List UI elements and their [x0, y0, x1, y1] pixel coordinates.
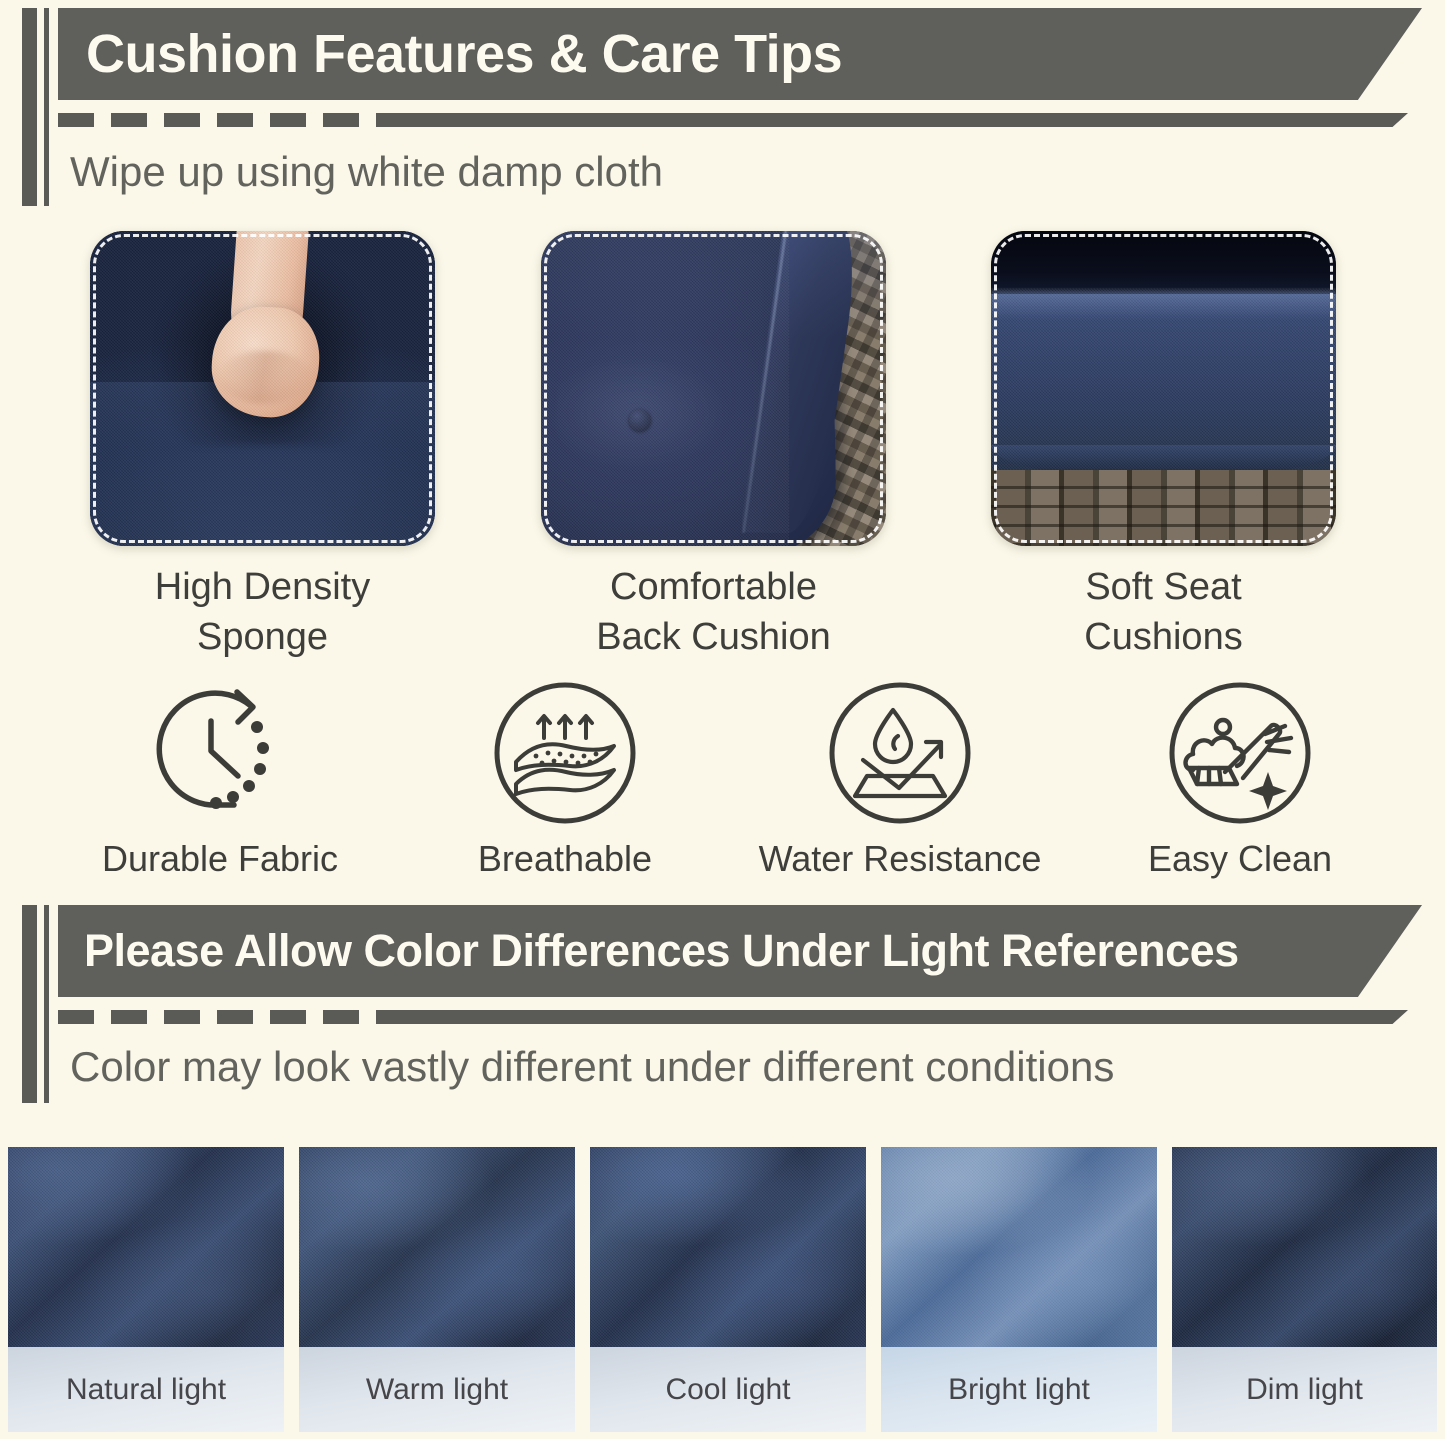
fabric-weave-texture-3: [991, 288, 1336, 471]
caption-line-1: High Density: [90, 562, 435, 612]
feature-durable-fabric: Durable Fabric: [75, 680, 365, 880]
fabric-weave-texture-1: [90, 231, 435, 546]
feature-water-resistance: Water Resistance: [755, 680, 1045, 880]
photo-card-soft-seat-cushions: [991, 231, 1336, 546]
brush-sparkle-icon: [1167, 680, 1313, 826]
swatch-natural-light: Natural light: [8, 1147, 284, 1432]
caption-comfortable-back-cushion: Comfortable Back Cushion: [521, 562, 906, 662]
swatch-weave-2: [299, 1147, 575, 1347]
feature-label-easy-clean: Easy Clean: [1095, 838, 1385, 880]
section1-banner: Cushion Features & Care Tips: [58, 8, 1422, 100]
section2-dash-divider: [58, 1010, 1408, 1024]
photo-card-high-density-sponge: [90, 231, 435, 546]
left-rule-thin-top: [44, 8, 49, 206]
swatch-label-dim-light: Dim light: [1172, 1373, 1437, 1407]
caption-soft-seat-cushions: Soft Seat Cushions: [991, 562, 1336, 662]
swatch-label-natural-light: Natural light: [8, 1373, 284, 1407]
photo-soft-seat-cushions: [991, 231, 1336, 546]
feature-breathable: Breathable: [420, 680, 710, 880]
section2-subhead: Color may look vastly different under di…: [70, 1043, 1114, 1091]
swatch-fabric-cool-light: [590, 1147, 866, 1347]
swatch-weave-1: [8, 1147, 284, 1347]
swatch-label-band-warm-light: Warm light: [299, 1347, 575, 1432]
left-rule-thin-bottom: [44, 905, 49, 1103]
caption-line-1: Comfortable: [521, 562, 906, 612]
section2-banner: Please Allow Color Differences Under Lig…: [58, 905, 1422, 997]
feature-label-water-resistance: Water Resistance: [755, 838, 1045, 880]
section1-subhead: Wipe up using white damp cloth: [70, 148, 663, 196]
swatch-label-band-natural-light: Natural light: [8, 1347, 284, 1432]
clock-arrow-icon: [140, 680, 300, 826]
feature-label-breathable: Breathable: [420, 838, 710, 880]
caption-line-2: Sponge: [90, 612, 435, 662]
swatch-label-warm-light: Warm light: [299, 1373, 575, 1407]
swatch-label-cool-light: Cool light: [590, 1373, 866, 1407]
section1-banner-title: Cushion Features & Care Tips: [86, 23, 842, 85]
swatch-weave-3: [590, 1147, 866, 1347]
left-rule-thick-bottom: [22, 905, 37, 1103]
feature-label-durable-fabric: Durable Fabric: [75, 838, 365, 880]
breathable-fabric-icon: [492, 680, 638, 826]
water-repel-icon: [827, 680, 973, 826]
swatch-bright-light: Bright light: [881, 1147, 1157, 1432]
swatch-fabric-dim-light: [1172, 1147, 1437, 1347]
swatch-dim-light: Dim light: [1172, 1147, 1437, 1432]
swatch-cool-light: Cool light: [590, 1147, 866, 1432]
rattan-base-rows: [991, 470, 1336, 546]
swatch-weave-4: [881, 1147, 1157, 1347]
infographic-page: Cushion Features & Care Tips Wipe up usi…: [0, 0, 1445, 1439]
section2-banner-title: Please Allow Color Differences Under Lig…: [84, 925, 1239, 977]
swatch-weave-5: [1172, 1147, 1437, 1347]
feature-easy-clean: Easy Clean: [1095, 680, 1385, 880]
caption-line-2: Cushions: [991, 612, 1336, 662]
photo-card-comfortable-back-cushion: [541, 231, 886, 546]
swatch-fabric-warm-light: [299, 1147, 575, 1347]
caption-line-1: Soft Seat: [991, 562, 1336, 612]
caption-high-density-sponge: High Density Sponge: [90, 562, 435, 662]
section1-dash-divider: [58, 113, 1408, 127]
photo-comfortable-back-cushion: [541, 231, 886, 546]
swatch-fabric-bright-light: [881, 1147, 1157, 1347]
caption-line-2: Back Cushion: [521, 612, 906, 662]
swatch-label-band-bright-light: Bright light: [881, 1347, 1157, 1432]
swatch-label-band-cool-light: Cool light: [590, 1347, 866, 1432]
swatch-label-band-dim-light: Dim light: [1172, 1347, 1437, 1432]
swatch-warm-light: Warm light: [299, 1147, 575, 1432]
fabric-weave-texture-2: [541, 231, 789, 546]
swatch-label-bright-light: Bright light: [881, 1373, 1157, 1407]
left-rule-thick-top: [22, 8, 37, 206]
photo-high-density-sponge: [90, 231, 435, 546]
swatch-fabric-natural-light: [8, 1147, 284, 1347]
